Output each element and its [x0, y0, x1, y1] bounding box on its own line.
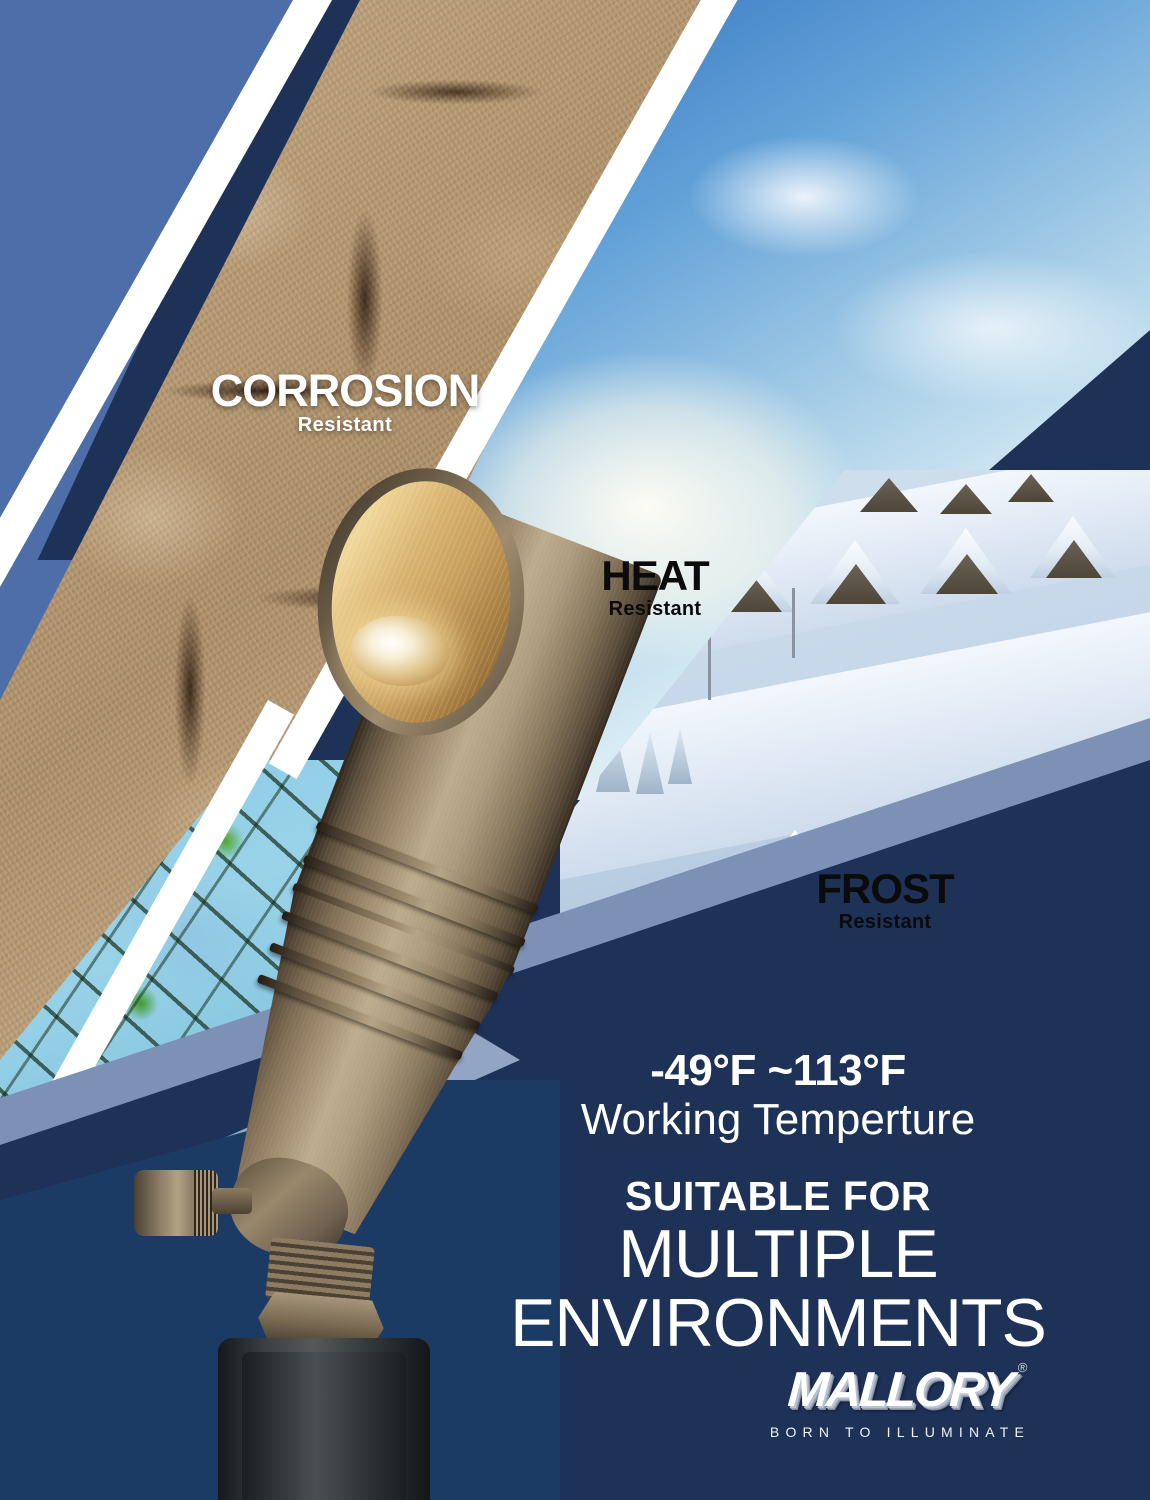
badge-frost: FROST Resistant [790, 868, 980, 932]
headline-kicker: SUITABLE FOR [458, 1173, 1098, 1220]
badge-heat-title: HEAT [560, 555, 750, 597]
temperature-label: Working Temperture [458, 1096, 1098, 1144]
brand-logo: MALLORY ® BORN TO ILLUMINATE [750, 1362, 1050, 1440]
badge-frost-subtitle: Resistant [790, 912, 980, 932]
logo-tagline: BORN TO ILLUMINATE [750, 1424, 1050, 1440]
marketing-infographic: CORROSION Resistant HEAT Resistant FROST… [0, 0, 1150, 1500]
badge-heat: HEAT Resistant [560, 555, 750, 619]
headline-line-1: MULTIPLE [458, 1220, 1098, 1289]
temperature-range: -49°F ~113°F [458, 1048, 1098, 1094]
registered-trademark-icon: ® [1017, 1360, 1028, 1375]
badge-corrosion-title: CORROSION [200, 368, 490, 413]
headline-line-2: ENVIRONMENTS [458, 1289, 1098, 1358]
badge-heat-subtitle: Resistant [560, 599, 750, 619]
utility-pole [792, 588, 795, 658]
knob-shaft [212, 1188, 252, 1214]
ground-stake-body [218, 1338, 430, 1500]
badge-corrosion: CORROSION Resistant [200, 368, 490, 435]
logo-wordmark: MALLORY ® [786, 1362, 1014, 1418]
logo-wordmark-text: MALLORY [786, 1363, 1014, 1417]
marketing-copy-block: -49°F ~113°F Working Temperture SUITABLE… [458, 1048, 1098, 1358]
badge-frost-title: FROST [790, 868, 980, 910]
badge-corrosion-subtitle: Resistant [200, 415, 490, 435]
adjustment-knob [134, 1170, 218, 1236]
